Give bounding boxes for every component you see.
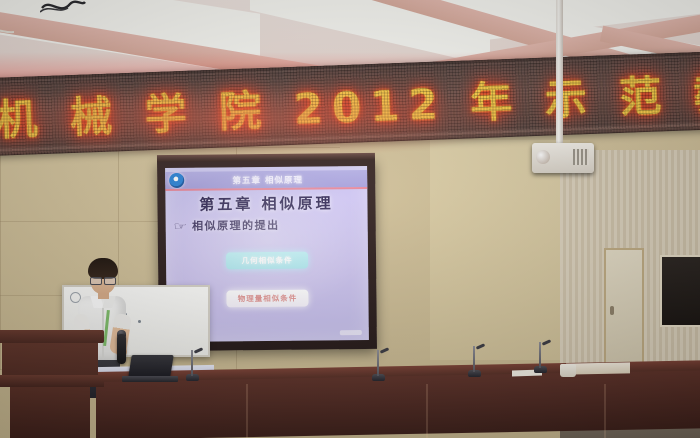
door-handle[interactable]	[610, 306, 614, 315]
mic-head-icon	[476, 343, 485, 349]
slide-header-text: 第五章 相似原理	[184, 172, 367, 186]
gooseneck-microphone[interactable]	[468, 341, 488, 377]
mic-neck	[377, 350, 379, 376]
desk-panel-seam	[246, 384, 248, 438]
laptop-keyboard-base[interactable]	[122, 376, 178, 382]
mic-head-icon	[542, 339, 551, 345]
desk-panel-seam	[426, 384, 428, 438]
gooseneck-microphone[interactable]	[534, 337, 554, 373]
laptop-cable	[0, 24, 14, 36]
desk-panel-seam	[604, 384, 606, 438]
slide-header-bar: 第五章 相似原理	[165, 170, 367, 189]
wall-section-right-inner	[430, 140, 570, 360]
podium-body	[2, 343, 98, 377]
podium-top	[0, 330, 104, 343]
laptop-screen	[128, 355, 173, 377]
slide-bullet-item: ☞ 相似原理的提出	[176, 217, 280, 234]
presentation-laptop[interactable]	[122, 355, 176, 383]
mic-head-icon	[194, 347, 203, 353]
projector-cables	[40, 0, 86, 18]
eyeglass-lens-right	[104, 277, 116, 285]
podium-shelf	[0, 375, 104, 387]
eyeglass-lens-left	[90, 277, 102, 285]
gooseneck-microphone[interactable]	[372, 345, 392, 381]
panel-desk	[96, 372, 700, 438]
presenter-hair	[88, 258, 118, 279]
control-room-window	[660, 255, 700, 327]
water-pitcher	[560, 364, 576, 377]
slide-box-primary: 几何相似条件	[226, 252, 308, 270]
projector-mount-pole	[556, 0, 563, 148]
mic-neck	[539, 342, 541, 368]
lecture-hall-photo: 机 械 学 院 2012 年 示 范 教 学 竞 赛 第五章 相似原理 第五章 …	[0, 0, 700, 438]
slide-footer-mark	[340, 330, 362, 335]
institution-logo-icon	[169, 173, 184, 188]
mic-neck	[473, 346, 475, 372]
eyeglasses-icon	[90, 277, 116, 283]
slide-title: 第五章 相似原理	[165, 192, 367, 215]
projector-vent	[573, 149, 589, 165]
gooseneck-microphone[interactable]	[186, 345, 206, 381]
projector-lens-icon	[536, 150, 550, 164]
mic-head-icon	[380, 347, 389, 353]
pointing-hand-icon: ☞	[173, 219, 189, 232]
mic-neck	[191, 350, 193, 376]
ceiling-projector	[532, 143, 594, 173]
whiteboard-mark	[138, 320, 141, 323]
slide-bullet-text: 相似原理的提出	[192, 217, 280, 234]
podium-base	[10, 387, 90, 438]
slide-box-secondary: 物理量相似条件	[226, 290, 308, 308]
wooden-podium	[0, 330, 104, 438]
side-door[interactable]	[604, 248, 644, 378]
